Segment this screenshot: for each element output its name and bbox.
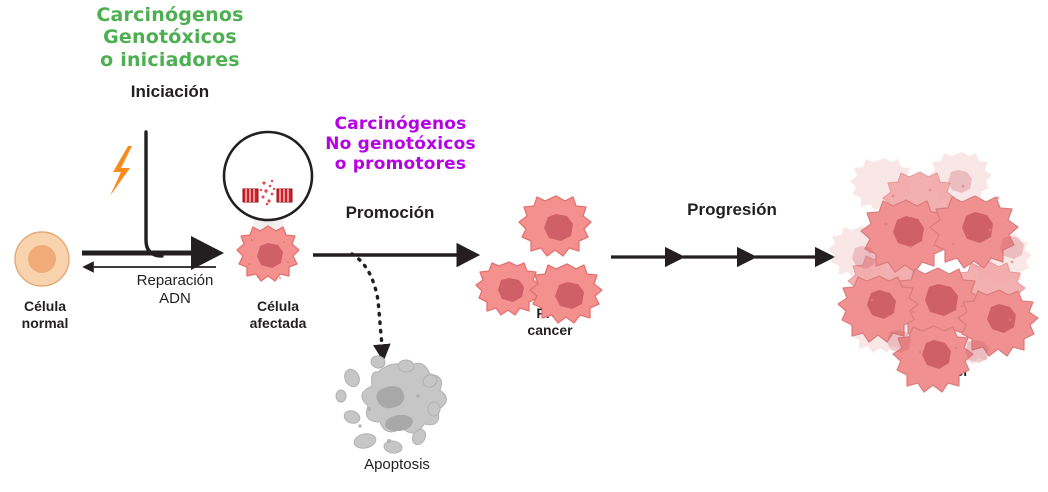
arrow-to-apoptosis — [352, 254, 382, 346]
initiation-connector — [146, 132, 162, 256]
cell-affected — [237, 226, 299, 281]
pre-cancer-cell-right — [530, 264, 602, 323]
cell-normal — [15, 232, 69, 286]
tumor-mass-cancer — [828, 152, 1038, 392]
callout-dna-damage — [224, 132, 312, 220]
carcinogenesis-diagram: Carcinógenos Genotóxicos o iniciadores I… — [0, 0, 1048, 492]
pre-cancer-cell-top — [519, 196, 591, 256]
cells-pre-cancer — [476, 196, 602, 323]
lightning-bolt-icon — [110, 146, 132, 196]
pre-cancer-cell-left — [476, 262, 540, 315]
